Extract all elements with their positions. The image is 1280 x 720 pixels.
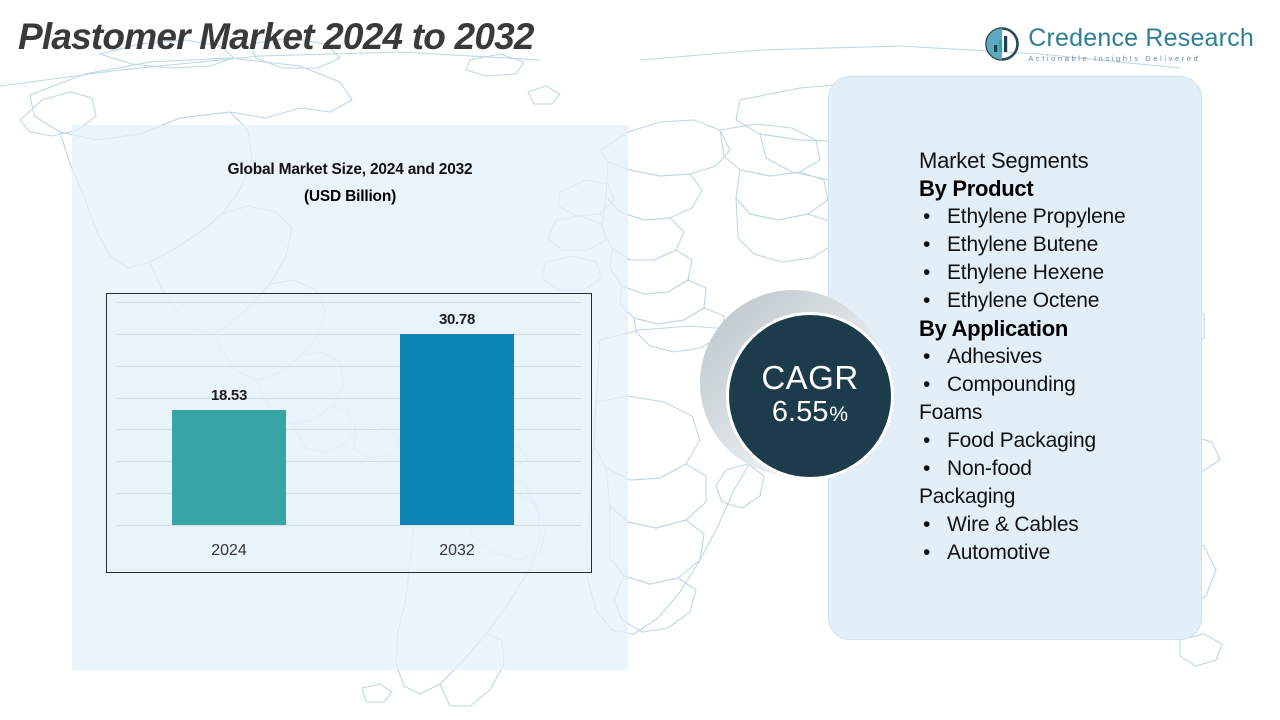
segments-list-item: •Non-food [919, 455, 1191, 483]
brand-logo: Credence Research Actionable Insights De… [985, 26, 1254, 63]
segments-heading: Market Segments [919, 147, 1191, 175]
segments-list-item: •Ethylene Propylene [919, 203, 1191, 231]
chart-bar-value-label: 18.53 [169, 387, 289, 404]
cagr-value: 6.55% [772, 394, 848, 430]
chart-title: Global Market Size, 2024 and 2032 [72, 161, 628, 179]
chart-bar-value-label: 30.78 [397, 311, 517, 328]
segments-list-item: •Compounding [919, 371, 1191, 399]
segments-group-title: By Product [919, 175, 1191, 203]
chart-category-label: 2024 [159, 542, 299, 560]
chart-panel: Global Market Size, 2024 and 2032 (USD B… [72, 125, 628, 670]
segments-list-item: •Adhesives [919, 343, 1191, 371]
segments-group-title: By Application [919, 315, 1191, 343]
chart-bar [172, 410, 286, 525]
segments-list-item: •Wire & Cables [919, 511, 1191, 539]
segments-list-item-label: Ethylene Butene [947, 233, 1098, 256]
segments-list-item-label: Adhesives [947, 345, 1042, 368]
bullet-icon: • [923, 455, 930, 483]
segments-list-item: Packaging [919, 483, 1191, 511]
bullet-icon: • [923, 343, 930, 371]
bullet-icon: • [923, 231, 930, 259]
segments-list-item-label: Automotive [947, 541, 1050, 564]
bullet-icon: • [923, 539, 930, 567]
chart-category-label: 2032 [387, 542, 527, 560]
segments-list-item: •Automotive [919, 539, 1191, 567]
segments-list-item: Foams [919, 399, 1191, 427]
chart-gridline [117, 525, 581, 526]
segments-list-item-label: Ethylene Octene [947, 289, 1099, 312]
brand-name: Credence Research [1028, 26, 1254, 51]
segments-list-item: •Food Packaging [919, 427, 1191, 455]
chart-plot-area: 18.5330.78 [107, 302, 591, 525]
segments-list-item-label: Packaging [919, 485, 1015, 508]
segments-list-item-label: Ethylene Hexene [947, 261, 1104, 284]
chart-gridline [117, 302, 581, 303]
segments-list-item: •Ethylene Hexene [919, 259, 1191, 287]
segments-list-item-label: Foams [919, 401, 982, 424]
bullet-icon: • [923, 371, 930, 399]
bar-chart: 18.5330.78 20242032 [106, 293, 592, 573]
bullet-icon: • [923, 511, 930, 539]
chart-subtitle: (USD Billion) [72, 188, 628, 206]
segments-list-item-label: Food Packaging [947, 429, 1096, 452]
bullet-icon: • [923, 259, 930, 287]
cagr-circle: CAGR 6.55% [726, 312, 894, 480]
page-title: Plastomer Market 2024 to 2032 [18, 16, 534, 58]
bullet-icon: • [923, 427, 930, 455]
cagr-badge: CAGR 6.55% [700, 290, 910, 500]
cagr-percent-symbol: % [829, 402, 848, 428]
cagr-number: 6.55 [772, 394, 828, 430]
circle-bar-chart-icon [985, 27, 1019, 61]
bullet-icon: • [923, 203, 930, 231]
brand-tagline: Actionable Insights Delivered [1028, 55, 1254, 63]
segments-list-item-label: Ethylene Propylene [947, 205, 1126, 228]
segments-list-item: •Ethylene Butene [919, 231, 1191, 259]
bullet-icon: • [923, 287, 930, 315]
segments-list-item: •Ethylene Octene [919, 287, 1191, 315]
cagr-label: CAGR [761, 361, 858, 394]
segments-list-item-label: Wire & Cables [947, 513, 1079, 536]
segments-list-item-label: Compounding [947, 373, 1076, 396]
chart-bar [400, 334, 514, 525]
market-segments-content: Market Segments By Product•Ethylene Prop… [919, 147, 1191, 567]
segments-list-item-label: Non-food [947, 457, 1032, 480]
